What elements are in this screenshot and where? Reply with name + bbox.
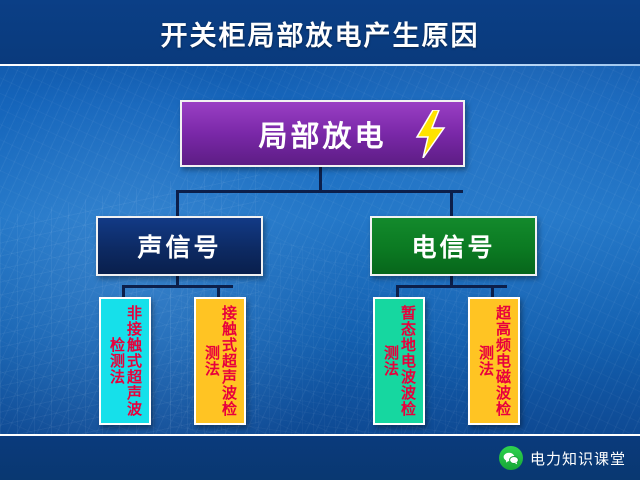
node-branch-sound[interactable]: 声信号 [96,216,263,276]
page-title: 开关柜局部放电产生原因 [0,14,640,53]
slide-footer: 电力知识课堂 [0,434,640,480]
wechat-icon [499,446,523,470]
node-leaf-3-label: 暂态地电波波检测法 [382,299,416,423]
slide-header: 开关柜局部放电产生原因 [0,0,640,66]
node-root-label: 局部放电 [258,113,386,155]
connector-horizontal [176,190,463,193]
connector-root-down [319,163,322,192]
node-leaf-4-label: 超高频电磁波检测法 [477,299,511,423]
node-leaf-2[interactable]: 接触式超声波检测法 [194,297,246,425]
watermark-label: 电力知识课堂 [530,448,626,469]
node-leaf-3[interactable]: 暂态地电波波检测法 [373,297,425,425]
node-leaf-1[interactable]: 非接触式超声波检测法 [99,297,151,425]
node-branch-sound-label: 声信号 [137,228,221,264]
connector-to-elec [450,190,453,218]
node-leaf-1-label: 非接触式超声波检测法 [108,299,142,423]
node-leaf-2-label: 接触式超声波检测法 [203,299,237,423]
node-leaf-4[interactable]: 超高频电磁波检测法 [468,297,520,425]
node-root[interactable]: 局部放电 [180,100,465,167]
lightning-bolt-icon [413,110,447,158]
slide-root: 开关柜局部放电产生原因 局部放电 声信号 电信号 非接触式超声波检测法 接触式超… [0,0,640,480]
connector-to-sound [176,190,179,218]
watermark: 电力知识课堂 [499,446,626,470]
node-branch-elec-label: 电信号 [411,228,495,264]
node-branch-elec[interactable]: 电信号 [370,216,537,276]
header-divider [0,64,640,66]
